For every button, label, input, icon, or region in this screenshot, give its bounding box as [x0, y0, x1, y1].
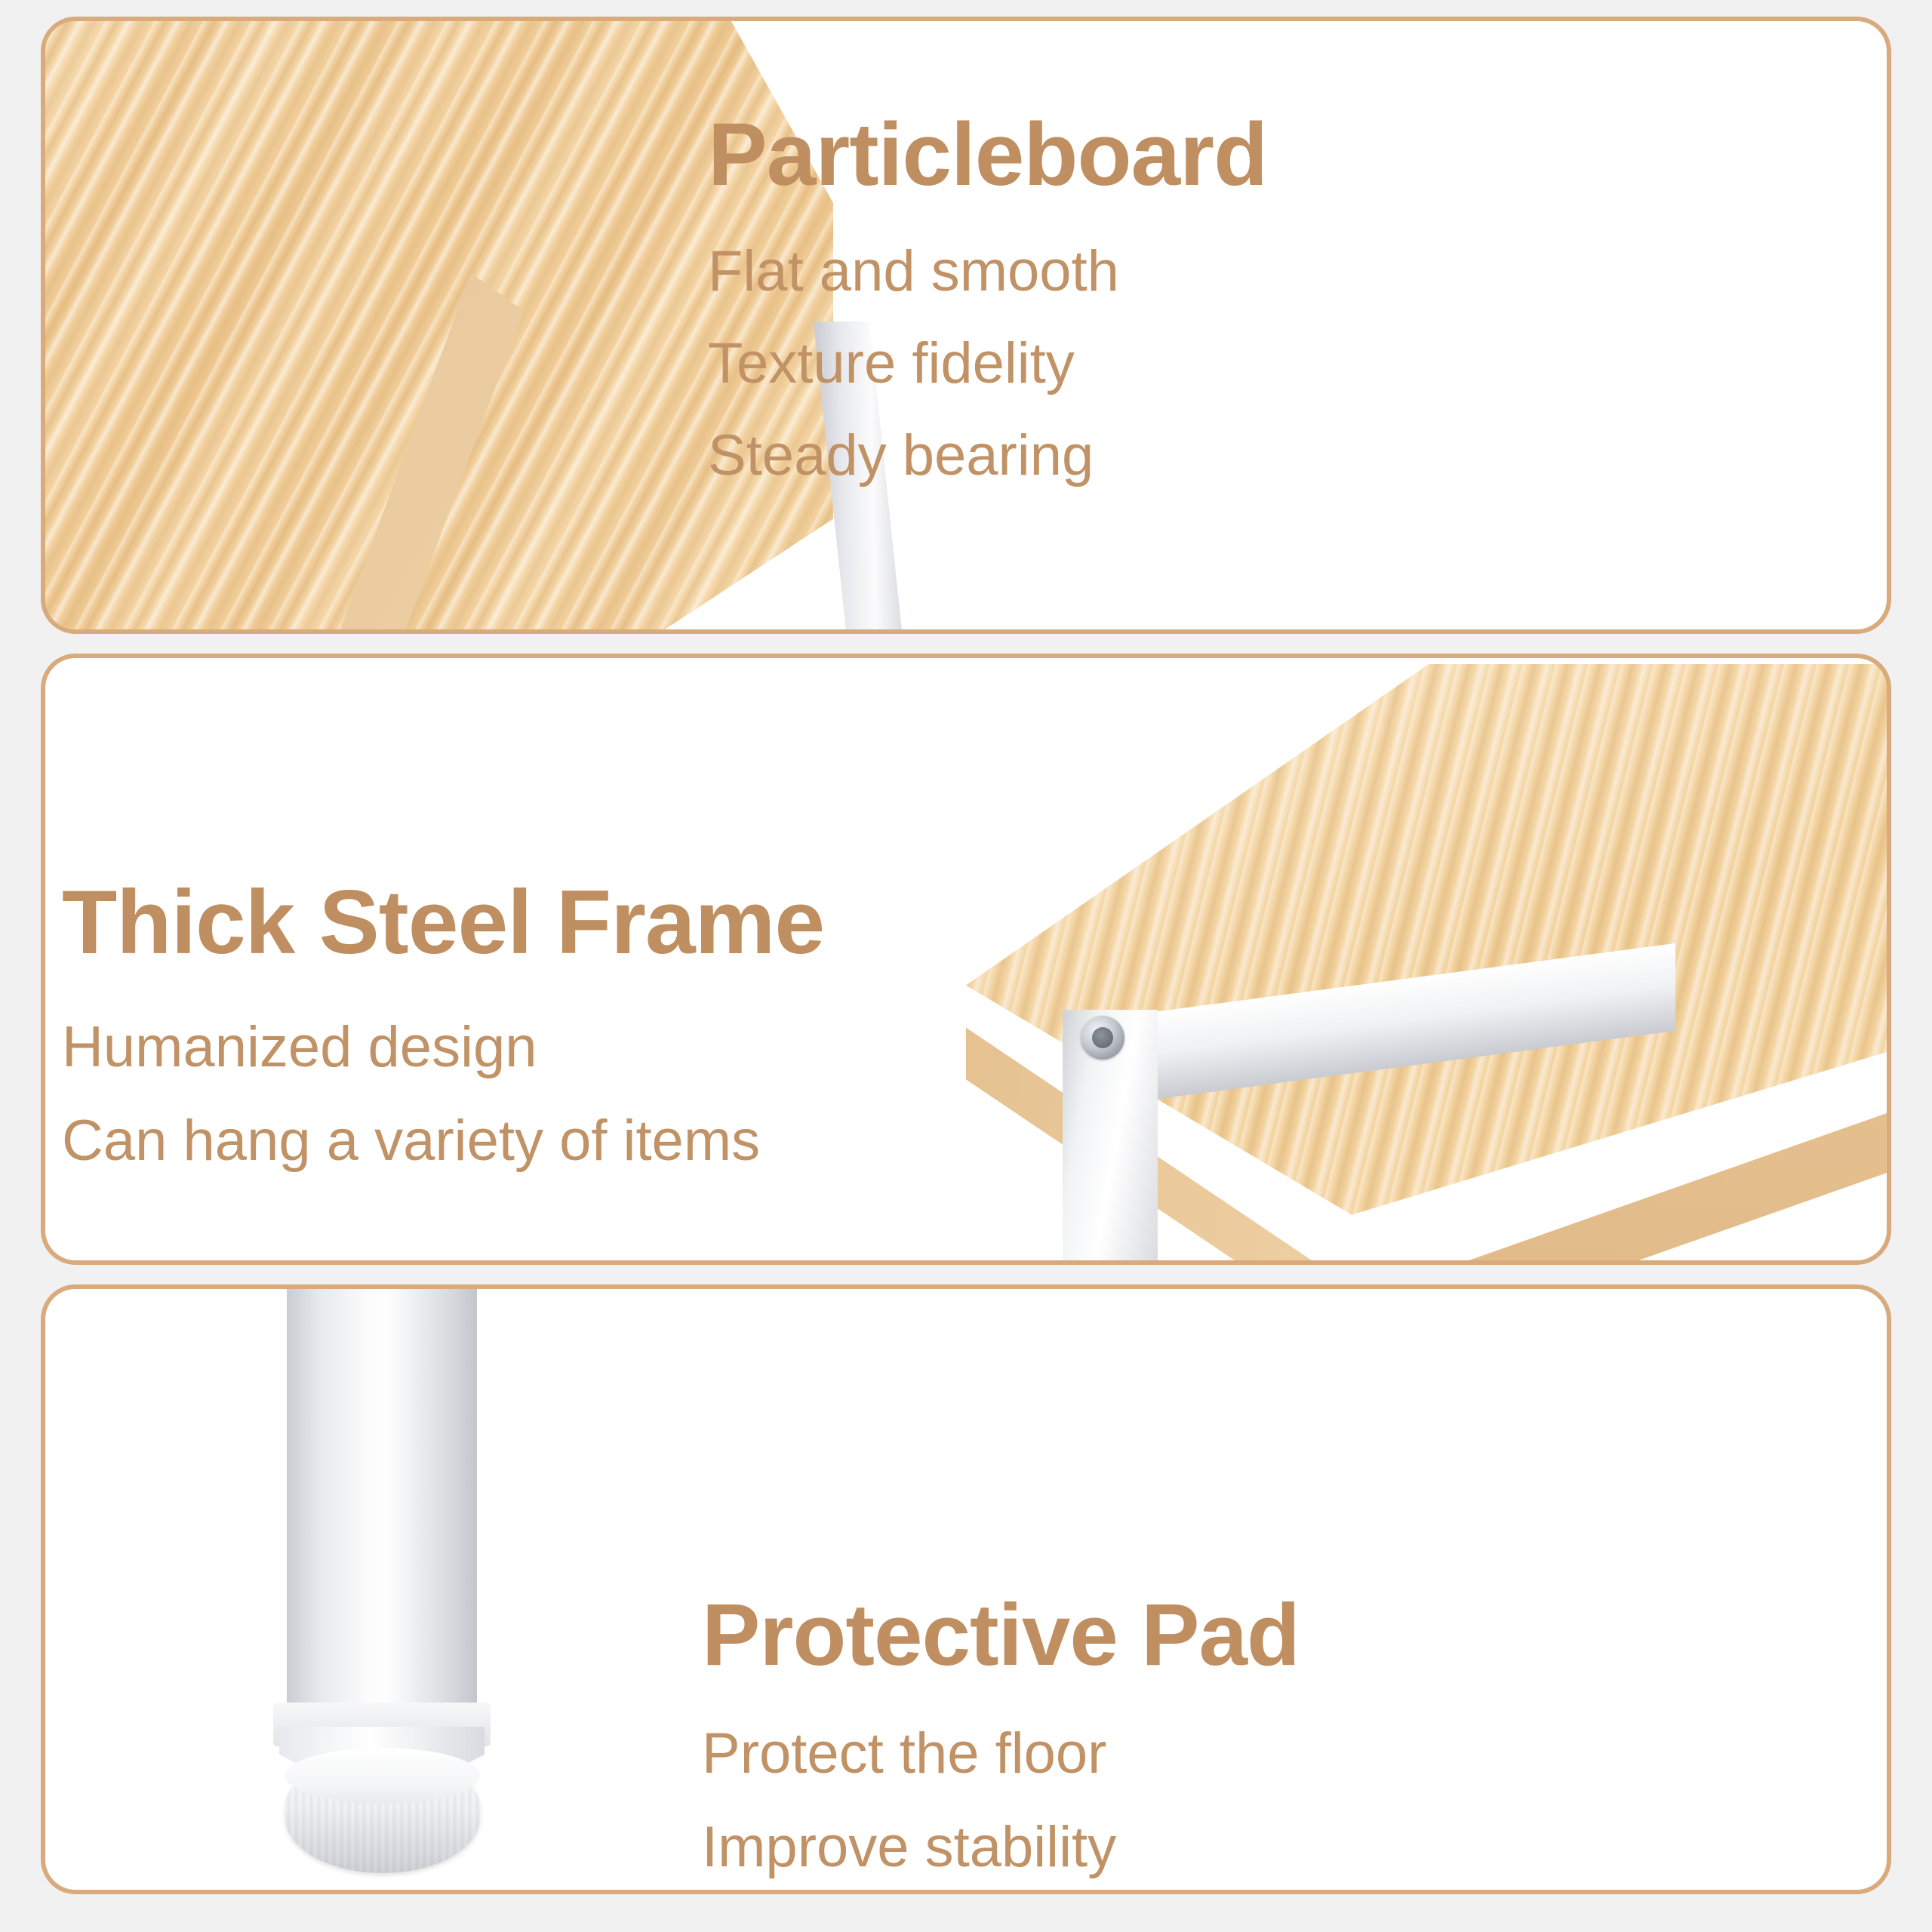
panel-protective-pad-heading: Protective Pad: [702, 1591, 1300, 1678]
protective-pad-top-face: [285, 1748, 480, 1804]
panel-particleboard-line-3: Steady bearing: [708, 427, 1267, 485]
steel-leg-post: [287, 1284, 477, 1715]
screw-icon: [1081, 1016, 1124, 1060]
panel-thick-steel-frame-line-2: Can hang a variety of items: [62, 1112, 824, 1170]
panel-protective-pad-line-1: Protect the floor: [702, 1725, 1300, 1783]
panel-protective-pad-line-2: Improve stability: [702, 1819, 1300, 1876]
panel-particleboard-line-1: Flat and smooth: [708, 243, 1267, 300]
panel-thick-steel-frame: Thick Steel Frame Humanized design Can h…: [41, 654, 1891, 1265]
photo-leg-with-protective-pad: [196, 1284, 664, 1894]
panel-thick-steel-frame-heading: Thick Steel Frame: [62, 877, 824, 968]
panel-particleboard-heading: Particleboard: [708, 110, 1267, 199]
panel-particleboard: Particleboard Flat and smooth Texture fi…: [41, 17, 1891, 634]
panel-particleboard-text: Particleboard Flat and smooth Texture fi…: [708, 110, 1267, 485]
panel-thick-steel-frame-line-1: Humanized design: [62, 1019, 824, 1076]
panel-thick-steel-frame-text: Thick Steel Frame Humanized design Can h…: [62, 877, 824, 1170]
panel-protective-pad: Protective Pad Protect the floor Improve…: [41, 1284, 1891, 1894]
panel-particleboard-line-2: Texture fidelity: [708, 335, 1267, 392]
infographic-page: Particleboard Flat and smooth Texture fi…: [0, 0, 1932, 1932]
panel-protective-pad-text: Protective Pad Protect the floor Improve…: [702, 1591, 1300, 1876]
